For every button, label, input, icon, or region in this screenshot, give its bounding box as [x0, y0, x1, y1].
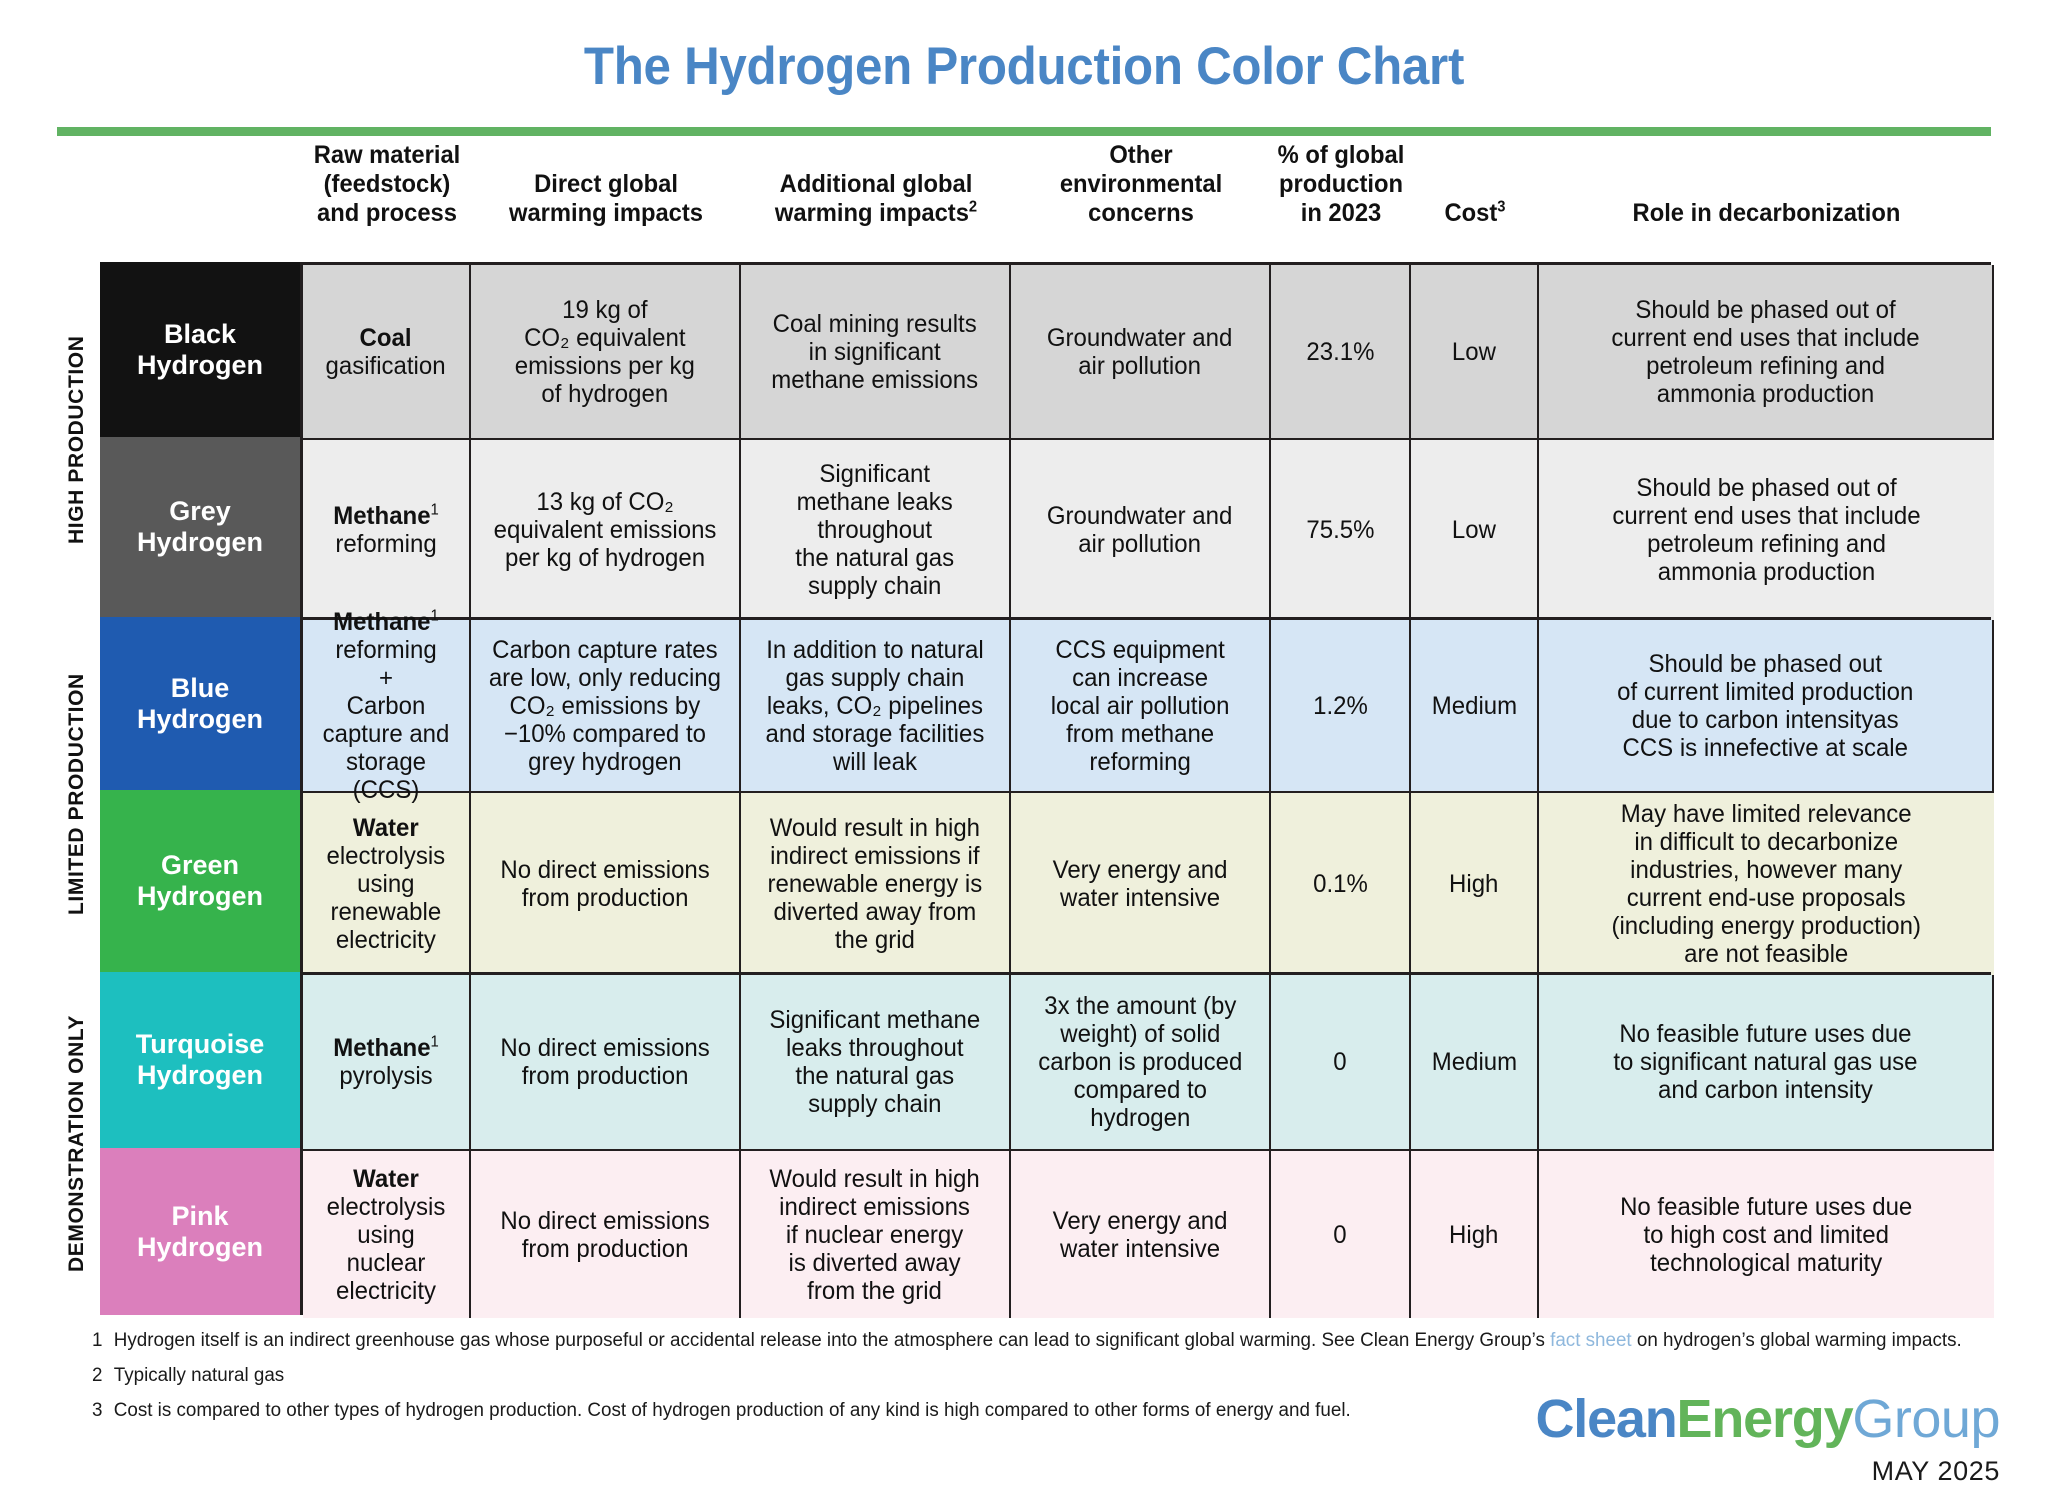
cell-black-additional: Coal mining resultsin significantmethane…: [741, 265, 1011, 440]
cell-turquoise-additional: Significant methaneleaks throughoutthe n…: [741, 975, 1011, 1151]
logo-wordmark: CleanEnergyGroup: [1535, 1390, 2000, 1448]
cell-green-other: Very energy andwater intensive: [1011, 793, 1271, 975]
cell-pink-direct: No direct emissionsfrom production: [471, 1151, 741, 1318]
cell-green-cost: High: [1411, 793, 1539, 975]
infographic-page: The Hydrogen Production Color Chart Raw …: [0, 0, 2048, 1505]
group-label-limited: LIMITED PRODUCTION: [57, 617, 97, 972]
cell-pink-share: 0: [1271, 1151, 1411, 1318]
cell-black-share: 23.1%: [1271, 265, 1411, 440]
cell-turquoise-feedstock: Methane1pyrolysis: [303, 975, 471, 1151]
footnote-1: 1Hydrogen itself is an indirect greenhou…: [92, 1330, 1874, 1352]
footnote-link-fact-sheet[interactable]: fact sheet: [1550, 1330, 1632, 1351]
cell-pink-cost: High: [1411, 1151, 1539, 1318]
cell-black-role: Should be phased out ofcurrent end uses …: [1539, 265, 1994, 440]
cell-blue-direct: Carbon capture ratesare low, only reduci…: [471, 620, 741, 793]
cell-blue-additional: In addition to naturalgas supply chainle…: [741, 620, 1011, 793]
hydrogen-color-chart-table: Raw material(feedstock)and processDirect…: [0, 0, 2048, 1505]
cell-blue-role: Should be phased outof current limited p…: [1539, 620, 1994, 793]
column-header-direct: Direct globalwarming impacts: [463, 170, 750, 228]
column-header-feedstock: Raw material(feedstock)and process: [292, 141, 482, 228]
footnote-text: Cost is compared to other types of hydro…: [114, 1400, 1351, 1422]
cell-turquoise-cost: Medium: [1411, 975, 1539, 1151]
group-label-high: HIGH PRODUCTION: [57, 262, 97, 617]
cell-green-role: May have limited relevancein difficult t…: [1539, 793, 1994, 975]
cell-green-share: 0.1%: [1271, 793, 1411, 975]
cell-pink-feedstock: Waterelectrolysisusing nuclearelectricit…: [303, 1151, 471, 1318]
group-label-demo: DEMONSTRATION ONLY: [57, 972, 97, 1315]
swatch-blue-hydrogen: BlueHydrogen: [100, 617, 300, 790]
swatch-black-hydrogen: BlackHydrogen: [100, 262, 300, 437]
cell-turquoise-share: 0: [1271, 975, 1411, 1151]
cell-grey-other: Groundwater andair pollution: [1011, 440, 1271, 620]
swatch-green-hydrogen: GreenHydrogen: [100, 790, 300, 972]
publication-date: MAY 2025: [1535, 1456, 2000, 1487]
cell-blue-share: 1.2%: [1271, 620, 1411, 793]
cell-pink-additional: Would result in highindirect emissionsif…: [741, 1151, 1011, 1318]
footnote-number: 2: [92, 1365, 114, 1387]
footnote-number: 1: [92, 1330, 114, 1352]
cell-black-feedstock: Coalgasification: [303, 265, 471, 440]
footnote-2: 2Typically natural gas: [92, 1365, 1874, 1387]
cell-grey-feedstock: Methane1reforming: [303, 440, 471, 620]
footnote-text: Typically natural gas: [114, 1365, 284, 1387]
cell-grey-share: 75.5%: [1271, 440, 1411, 620]
cell-black-other: Groundwater andair pollution: [1011, 265, 1271, 440]
cell-black-cost: Low: [1411, 265, 1539, 440]
cell-blue-cost: Medium: [1411, 620, 1539, 793]
footnote-text: Hydrogen itself is an indirect greenhous…: [114, 1330, 1962, 1352]
cell-blue-other: CCS equipmentcan increaselocal air pollu…: [1011, 620, 1271, 793]
swatch-turquoise-hydrogen: TurquoiseHydrogen: [100, 972, 300, 1148]
cell-grey-additional: Significantmethane leaksthroughoutthe na…: [741, 440, 1011, 620]
column-header-other: Otherenvironmentalconcerns: [1002, 141, 1279, 228]
column-header-additional: Additional globalwarming impacts2: [733, 170, 1020, 228]
cell-green-additional: Would result in highindirect emissions i…: [741, 793, 1011, 975]
cell-black-direct: 19 kg ofCO₂ equivalentemissions per kgof…: [471, 265, 741, 440]
swatch-grey-hydrogen: GreyHydrogen: [100, 437, 300, 617]
column-header-cost: Cost3: [1399, 199, 1551, 228]
footnote-number: 3: [92, 1400, 114, 1422]
table-group-demo: Methane1pyrolysisNo direct emissionsfrom…: [300, 972, 1991, 1315]
cell-turquoise-role: No feasible future uses dueto significan…: [1539, 975, 1994, 1151]
cell-turquoise-other: 3x the amount (byweight) of solidcarbon …: [1011, 975, 1271, 1151]
logo-clean-text: Clean: [1535, 1389, 1676, 1449]
logo-energy-text: Energy: [1677, 1389, 1853, 1449]
table-group-high: Coalgasification19 kg ofCO₂ equivalentem…: [300, 262, 1991, 617]
swatch-pink-hydrogen: PinkHydrogen: [100, 1148, 300, 1315]
cell-grey-role: Should be phased out ofcurrent end uses …: [1539, 440, 1994, 620]
cell-pink-role: No feasible future uses dueto high cost …: [1539, 1151, 1994, 1318]
cell-grey-cost: Low: [1411, 440, 1539, 620]
cell-blue-feedstock: Methane1reforming+Carboncapture andstora…: [303, 620, 471, 793]
cell-green-feedstock: Waterelectrolysisusingrenewableelectrici…: [303, 793, 471, 975]
clean-energy-group-logo: CleanEnergyGroup MAY 2025: [1535, 1390, 2000, 1487]
cell-turquoise-direct: No direct emissionsfrom production: [471, 975, 741, 1151]
cell-pink-other: Very energy andwater intensive: [1011, 1151, 1271, 1318]
logo-group-text: Group: [1852, 1389, 2000, 1449]
table-group-limited: Methane1reforming+Carboncapture andstora…: [300, 617, 1991, 972]
cell-green-direct: No direct emissionsfrom production: [471, 793, 741, 975]
column-header-role: Role in decarbonization: [1535, 199, 1998, 228]
cell-grey-direct: 13 kg of CO₂equivalent emissionsper kg o…: [471, 440, 741, 620]
